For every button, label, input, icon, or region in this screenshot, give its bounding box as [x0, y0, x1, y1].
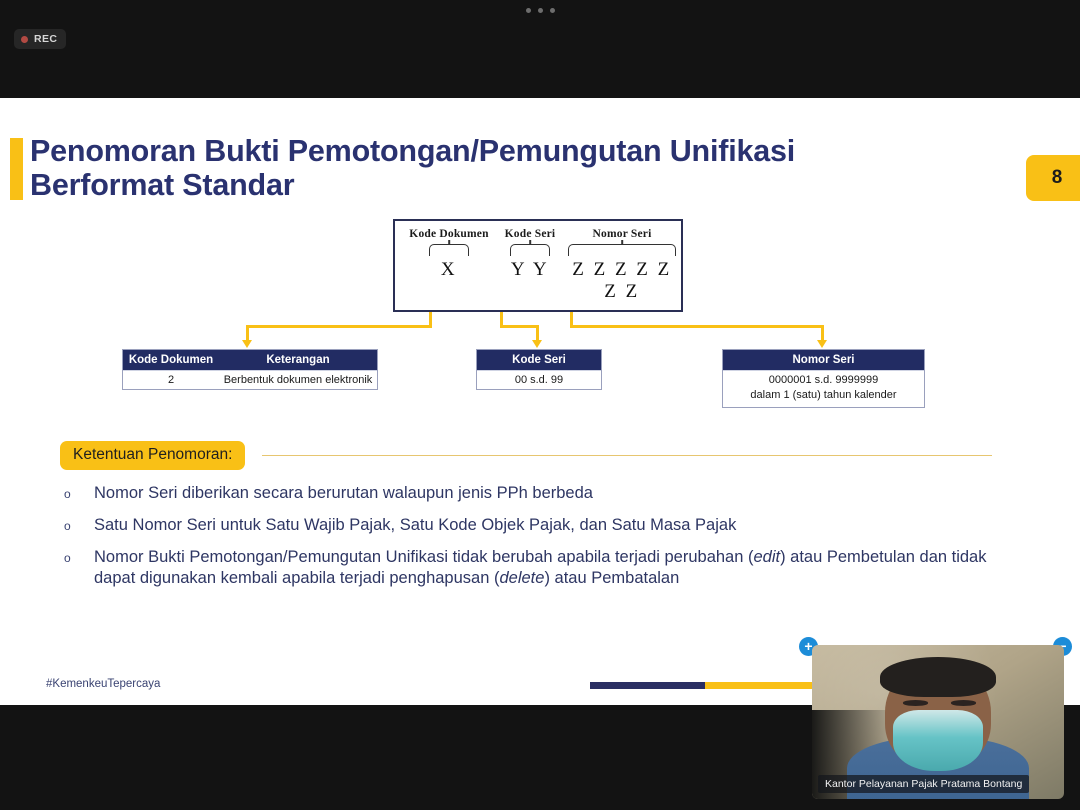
format-column-nomor-seri: Nomor Seri Z Z Z Z Z Z Z: [563, 227, 681, 303]
participant-eye-right: [951, 700, 976, 705]
page-title: Penomoran Bukti Pemotongan/Pemungutan Un…: [30, 134, 860, 203]
slide-page-number-badge: 8: [1026, 155, 1080, 201]
header-kode-seri: Kode Seri: [477, 354, 601, 366]
list-item-label: Satu Nomor Seri untuk Satu Wajib Pajak, …: [94, 515, 736, 536]
recording-label: REC: [34, 33, 57, 45]
cell-kode-dokumen-value: 2: [123, 374, 219, 386]
header-kode-dokumen: Kode Dokumen: [123, 354, 219, 366]
format-diagram-box: Kode Dokumen X Kode Seri Y Y Nomor Seri …: [393, 219, 683, 312]
app-window: REC Penomoran Bukti Pemotongan/Pemunguta…: [0, 0, 1080, 810]
format-value-kode-seri: Y Y: [499, 259, 561, 281]
bullet-marker-icon: o: [64, 515, 94, 536]
header-keterangan: Keterangan: [219, 354, 377, 366]
table-kode-seri: Kode Seri 00 s.d. 99: [476, 349, 602, 390]
ketentuan-label: Ketentuan Penomoran:: [60, 441, 245, 470]
bullet-marker-icon: o: [64, 547, 94, 589]
cell-nomor-seri-period: dalam 1 (satu) tahun kalender: [723, 388, 924, 403]
format-caption-kode-seri: Kode Seri: [499, 227, 561, 241]
presentation-slide[interactable]: Penomoran Bukti Pemotongan/Pemungutan Un…: [0, 98, 1080, 705]
list-item-label: Nomor Bukti Pemotongan/Pemungutan Unifik…: [94, 547, 999, 589]
slide-progress-fill: [590, 682, 705, 689]
cell-keterangan-value: Berbentuk dokumen elektronik: [219, 374, 377, 386]
window-dots-menu[interactable]: [0, 8, 1080, 13]
participant-hair: [880, 657, 996, 697]
list-item-label: Nomor Seri diberikan secara berurutan wa…: [94, 483, 593, 504]
format-column-kode-dokumen: Kode Dokumen X: [403, 227, 495, 281]
brace-icon-nomor-seri: [568, 244, 676, 256]
format-caption-nomor-seri: Nomor Seri: [563, 227, 681, 241]
participant-face-mask: [893, 710, 984, 772]
format-caption-kode-dokumen: Kode Dokumen: [403, 227, 495, 241]
header-nomor-seri: Nomor Seri: [723, 354, 924, 366]
table-header-row: Kode Dokumen Keterangan: [123, 350, 377, 370]
title-accent-bar: [10, 138, 23, 200]
participant-name-label: Kantor Pelayanan Pajak Pratama Bontang: [818, 775, 1029, 793]
list-item: oSatu Nomor Seri untuk Satu Wajib Pajak,…: [64, 515, 999, 536]
dot-3: [550, 8, 555, 13]
list-item: oNomor Seri diberikan secara berurutan w…: [64, 483, 999, 504]
table-header-row: Kode Seri: [477, 350, 601, 370]
list-item: oNomor Bukti Pemotongan/Pemungutan Unifi…: [64, 547, 999, 589]
format-column-kode-seri: Kode Seri Y Y: [499, 227, 561, 281]
format-value-nomor-seri: Z Z Z Z Z Z Z: [563, 259, 681, 303]
record-dot-icon: [21, 36, 28, 43]
cell-kode-seri-value: 00 s.d. 99: [477, 374, 601, 386]
ketentuan-divider: [262, 455, 992, 456]
brace-icon-kode-dokumen: [429, 244, 469, 256]
table-kode-dokumen: Kode Dokumen Keterangan 2 Berbentuk doku…: [122, 349, 378, 390]
format-value-kode-dokumen: X: [403, 259, 495, 281]
slide-hashtag: #KemenkeuTepercaya: [46, 678, 160, 690]
dot-1: [526, 8, 531, 13]
table-row: 0000001 s.d. 9999999 dalam 1 (satu) tahu…: [723, 370, 924, 407]
ketentuan-bullet-list: oNomor Seri diberikan secara berurutan w…: [64, 483, 999, 600]
table-nomor-seri: Nomor Seri 0000001 s.d. 9999999 dalam 1 …: [722, 349, 925, 408]
participant-video-tile[interactable]: Kantor Pelayanan Pajak Pratama Bontang: [812, 645, 1064, 799]
dot-2: [538, 8, 543, 13]
recording-badge: REC: [14, 29, 66, 49]
brace-icon-kode-seri: [510, 244, 550, 256]
cell-nomor-seri-range: 0000001 s.d. 9999999: [723, 373, 924, 388]
participant-eye-left: [903, 700, 928, 705]
bullet-marker-icon: o: [64, 483, 94, 504]
slide-progress-bar: [590, 682, 830, 689]
table-row: 2 Berbentuk dokumen elektronik: [123, 370, 377, 389]
table-header-row: Nomor Seri: [723, 350, 924, 370]
table-row: 00 s.d. 99: [477, 370, 601, 389]
